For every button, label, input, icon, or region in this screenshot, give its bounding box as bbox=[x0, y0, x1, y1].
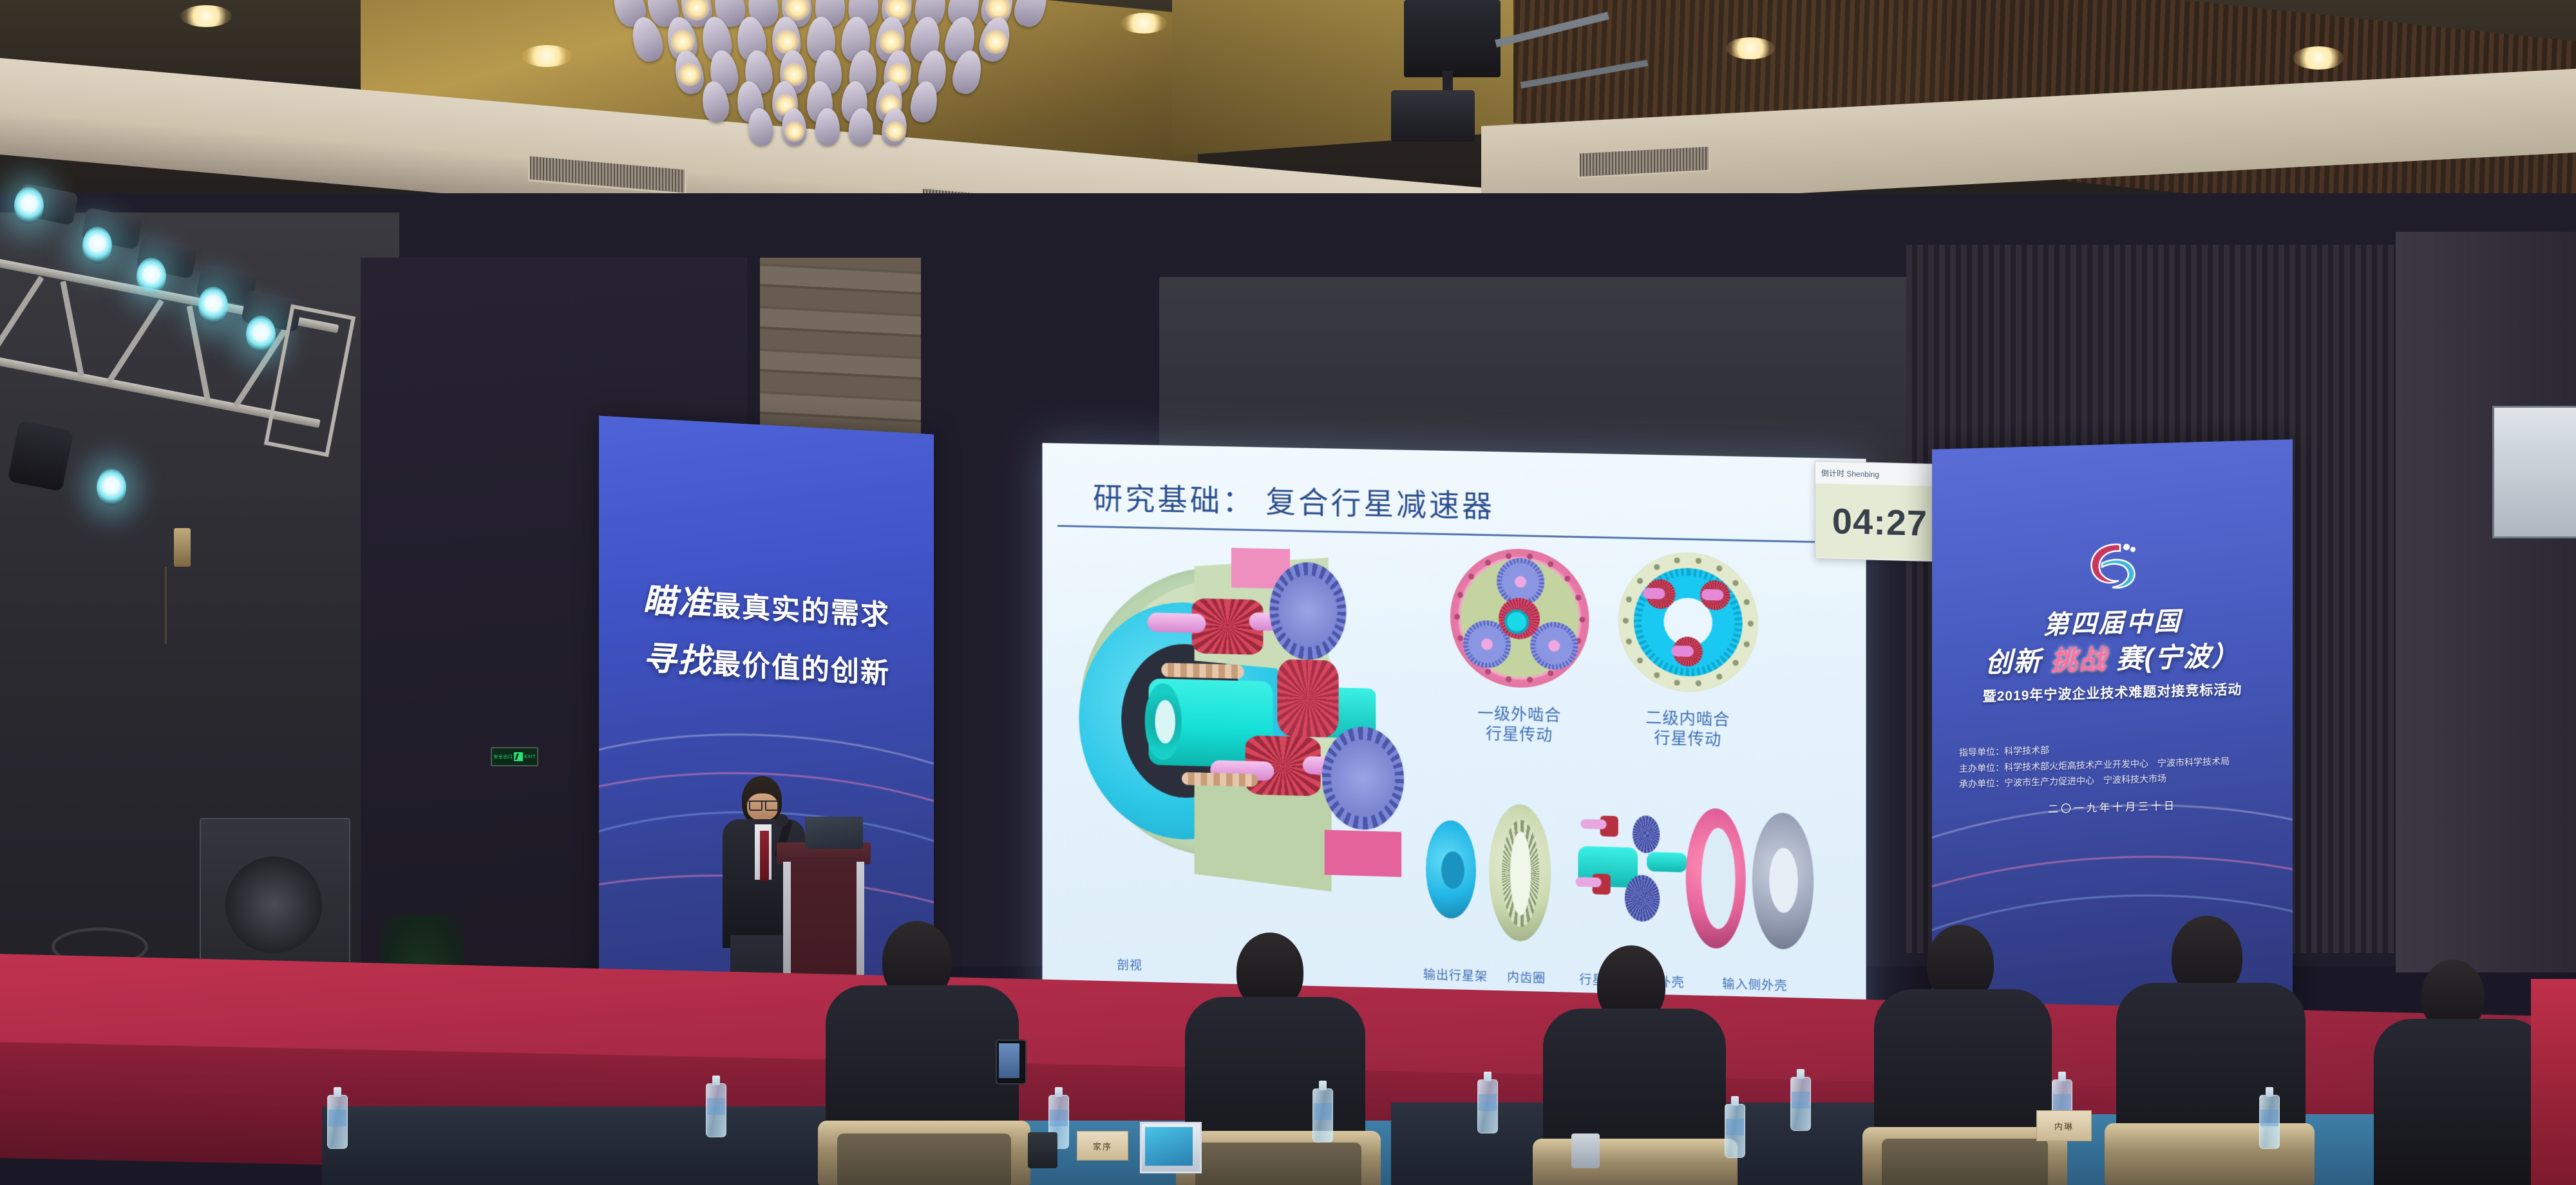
cup bbox=[1028, 1132, 1057, 1168]
pa-speaker-cone bbox=[225, 857, 322, 953]
left-banner-line1: 瞄准最真实的需求 bbox=[599, 570, 934, 637]
exit-sign-label-en: EXIT bbox=[524, 755, 536, 759]
timer-title-bar: 倒计时 Shenbing ✕ bbox=[1815, 462, 1944, 487]
water-bottle-2 bbox=[706, 1083, 726, 1137]
downlight-3 bbox=[1121, 13, 1167, 33]
section-view-label: 剖视 bbox=[1117, 956, 1142, 974]
projector-body bbox=[1391, 90, 1475, 142]
downlight-1 bbox=[180, 5, 232, 27]
right-banner-title-c: 赛(宁波） bbox=[2116, 640, 2240, 674]
stage-light-4 bbox=[198, 287, 228, 324]
necktie bbox=[760, 831, 769, 881]
part-label-1: 内齿圈 bbox=[1507, 968, 1546, 987]
tablet-screen bbox=[1145, 1127, 1193, 1166]
chair-2-inner bbox=[1195, 1142, 1361, 1185]
water-bottle-9 bbox=[1725, 1104, 1745, 1158]
left-banner-line2-emphasis: 寻找 bbox=[643, 640, 712, 681]
gear-label-1: 一级外啮合 行星传动 bbox=[1432, 703, 1607, 748]
chair-3 bbox=[1533, 1139, 1738, 1185]
event-logo-icon bbox=[2083, 540, 2142, 592]
left-banner-line1-rest: 最真实的需求 bbox=[712, 590, 890, 631]
gear-label-2: 二级内啮合 行星传动 bbox=[1600, 707, 1776, 752]
phone-screen bbox=[999, 1043, 1019, 1078]
left-banner-line2-rest: 最价值的创新 bbox=[712, 648, 890, 689]
timer-title: 倒计时 Shenbing bbox=[1821, 467, 1879, 479]
right-banner-fine-print: 指导单位：科学技术部 主办单位：科学技术部火炬高技术产业开发中心 宁波市科学技术… bbox=[1959, 737, 2230, 792]
sun-gear-mid bbox=[1277, 659, 1338, 737]
audience-person-7-red bbox=[2531, 979, 2576, 1185]
stage-light-5 bbox=[246, 316, 276, 353]
exit-sign: 安全出口 EXIT bbox=[491, 747, 538, 766]
left-banner-line1-emphasis: 瞄准 bbox=[643, 582, 712, 623]
slide-title: 研究基础： 复合行星减速器 bbox=[1093, 473, 1495, 526]
projector-mount bbox=[1404, 0, 1501, 77]
exit-sign-label-cn: 安全出口 bbox=[493, 754, 513, 760]
right-banner-subtitle: 暨2019年宁波企业技术难题对接竞标活动 bbox=[1932, 678, 2293, 707]
water-bottle-1 bbox=[327, 1095, 348, 1149]
planetary-stage-2-diagram bbox=[1618, 551, 1758, 694]
name-card-1: 家序 bbox=[1077, 1131, 1128, 1161]
downlight-4 bbox=[1726, 37, 1775, 59]
part-label-0: 输出行星架 bbox=[1423, 965, 1488, 985]
cad-cutaway-assembly bbox=[1068, 539, 1425, 959]
chair-4-inner bbox=[1882, 1139, 2048, 1185]
wall-sconce-bracket bbox=[165, 567, 202, 644]
audience-table-left bbox=[322, 1106, 902, 1185]
water-bottle-4 bbox=[1312, 1088, 1333, 1142]
moving-head-light bbox=[8, 421, 74, 492]
laptop bbox=[805, 817, 863, 849]
timer-value: 04:27 bbox=[1815, 484, 1944, 561]
stage-light-6 bbox=[97, 469, 126, 506]
right-banner-title-a: 创新 bbox=[1985, 646, 2041, 678]
water-bottle-5 bbox=[1477, 1079, 1498, 1133]
water-bottle-6 bbox=[1790, 1077, 1811, 1131]
side-display-panel bbox=[2492, 406, 2576, 538]
countdown-timer-window[interactable]: 倒计时 Shenbing ✕ 04:27 bbox=[1815, 461, 1945, 562]
conference-stage-photo: 安全出口 EXIT 瞄准最真实的需求 寻找最价值的创新 研究基础： 复合行星减速… bbox=[0, 0, 2576, 1185]
stage-light-2 bbox=[82, 227, 112, 264]
projection-screen: 研究基础： 复合行星减速器 bbox=[1042, 443, 1866, 1064]
stage-light-3 bbox=[137, 258, 166, 295]
slide-title-rule bbox=[1057, 525, 1850, 544]
gear-label-1-line2: 行星传动 bbox=[1432, 723, 1607, 748]
chair-5 bbox=[2105, 1123, 2315, 1185]
left-banner-line2: 寻找最价值的创新 bbox=[599, 628, 934, 695]
part-label-4: 输入侧外壳 bbox=[1722, 974, 1787, 994]
stage-light-1 bbox=[14, 187, 44, 224]
running-man-icon bbox=[514, 752, 523, 761]
chandelier bbox=[580, 0, 1069, 161]
right-pillar bbox=[2396, 232, 2576, 972]
right-banner-title-b: 挑战 bbox=[2050, 644, 2107, 676]
downlight-5 bbox=[2293, 46, 2344, 70]
chair-1-inner bbox=[837, 1133, 1011, 1185]
planetary-stage-1-diagram bbox=[1450, 547, 1589, 689]
name-card-2: 内琳 bbox=[2036, 1110, 2092, 1141]
cup-right bbox=[1571, 1133, 1600, 1168]
gear-label-2-line2: 行星传动 bbox=[1600, 727, 1776, 752]
exploded-view bbox=[1419, 792, 1821, 965]
water-bottle-8 bbox=[2259, 1095, 2280, 1149]
upper-dark-screen bbox=[1159, 277, 1913, 470]
wall-sconce bbox=[174, 528, 191, 567]
downlight-2 bbox=[522, 45, 572, 67]
